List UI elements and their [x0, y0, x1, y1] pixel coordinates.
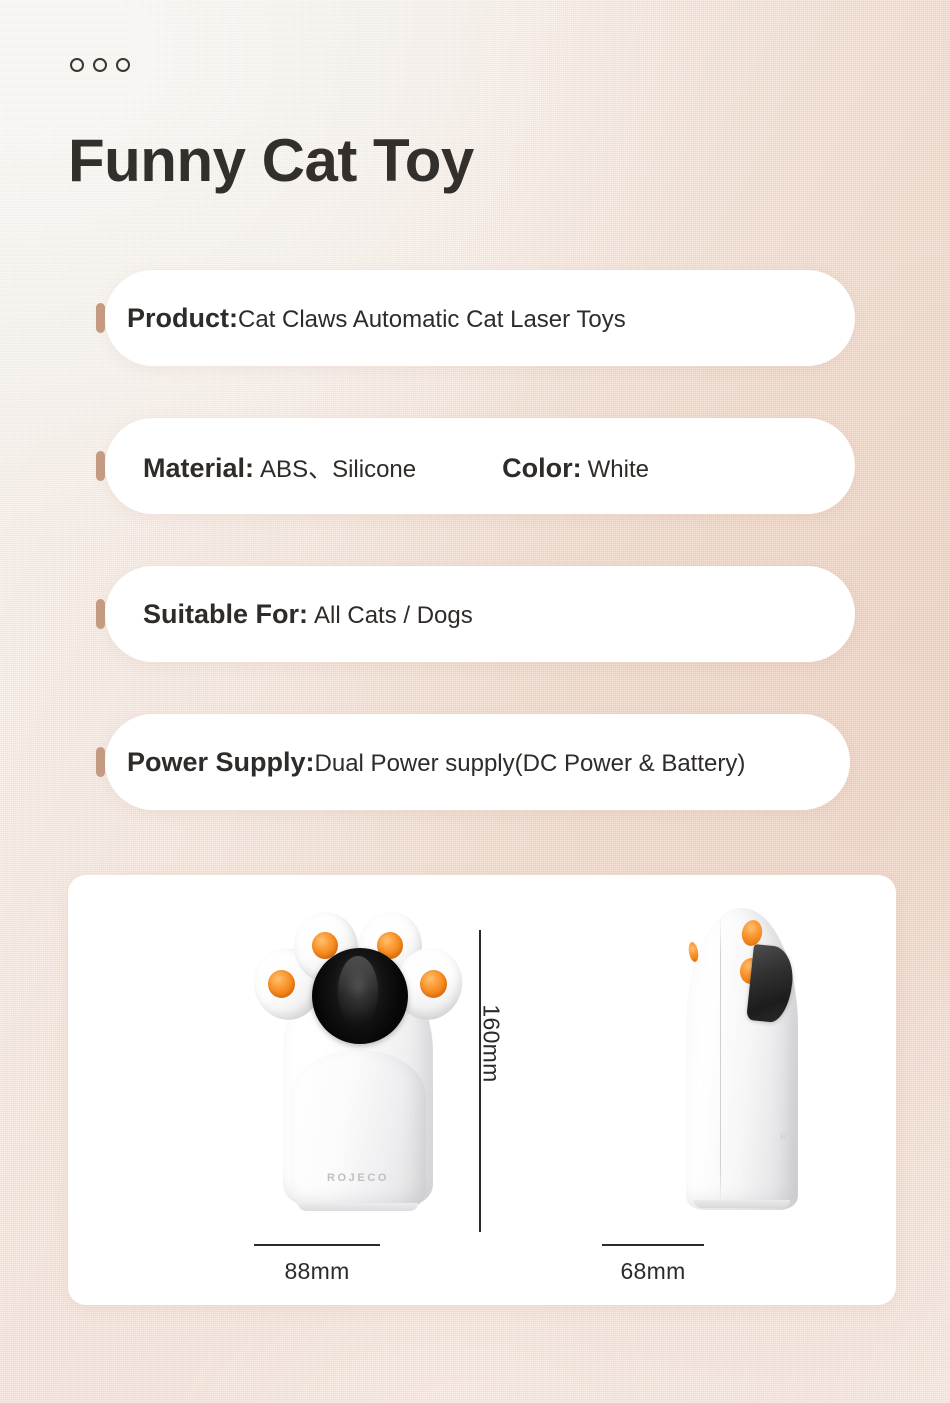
brand-logo-text: ROJECO	[248, 1172, 468, 1184]
spec-card-material: Material: ABS、Silicone Color: White	[105, 418, 855, 514]
spec-value-color: White	[588, 456, 649, 484]
spec-card-product: Product: Cat Claws Automatic Cat Laser T…	[105, 270, 855, 366]
accent-bar-icon	[96, 599, 105, 629]
spec-label: Suitable For:	[143, 599, 308, 630]
product-side-view: R	[658, 900, 838, 1220]
spec-text: Power Supply: Dual Power supply(DC Power…	[127, 747, 745, 778]
spec-card-suitable-for: Suitable For: All Cats / Dogs	[105, 566, 855, 662]
accent-bar-icon	[96, 747, 105, 777]
device-base	[298, 1203, 418, 1211]
dimension-label-width: 88mm	[224, 1258, 410, 1285]
brand-mark-side: R	[780, 1132, 788, 1142]
device-lower-body	[290, 1050, 426, 1210]
device-base-side	[694, 1200, 790, 1208]
spec-group-color: Color: White	[502, 453, 649, 484]
spec-card-power-supply: Power Supply: Dual Power supply(DC Power…	[105, 714, 850, 810]
accent-bar-icon	[96, 451, 105, 481]
circle-outline-icon	[116, 58, 130, 72]
header-dots	[70, 58, 130, 72]
orange-pad-icon	[268, 970, 295, 998]
product-front-view: ROJECO	[248, 900, 468, 1220]
spec-value: All Cats / Dogs	[314, 602, 473, 630]
spec-label: Material:	[143, 453, 254, 484]
spec-text: Suitable For: All Cats / Dogs	[143, 599, 473, 630]
orange-pad-icon	[420, 970, 447, 998]
dimension-label-height: 160mm	[478, 994, 505, 1094]
dimension-line-width	[254, 1244, 380, 1246]
spec-value: ABS、Silicone	[260, 449, 416, 484]
accent-bar-icon	[96, 303, 105, 333]
circle-outline-icon	[70, 58, 84, 72]
dimension-line-depth	[602, 1244, 704, 1246]
dimension-label-depth: 68mm	[568, 1258, 738, 1285]
spec-value: Cat Claws Automatic Cat Laser Toys	[238, 306, 626, 334]
circle-outline-icon	[93, 58, 107, 72]
spec-label-color: Color:	[502, 453, 581, 484]
laser-lens	[312, 948, 408, 1044]
page-title: Funny Cat Toy	[68, 128, 474, 194]
spec-label: Power Supply:	[127, 747, 315, 778]
spec-value: Dual Power supply(DC Power & Battery)	[315, 750, 746, 778]
spec-text: Material: ABS、Silicone Color: White	[143, 449, 649, 484]
spec-text: Product: Cat Claws Automatic Cat Laser T…	[127, 303, 626, 334]
spec-label: Product:	[127, 303, 238, 334]
device-seam-line	[720, 916, 721, 1204]
